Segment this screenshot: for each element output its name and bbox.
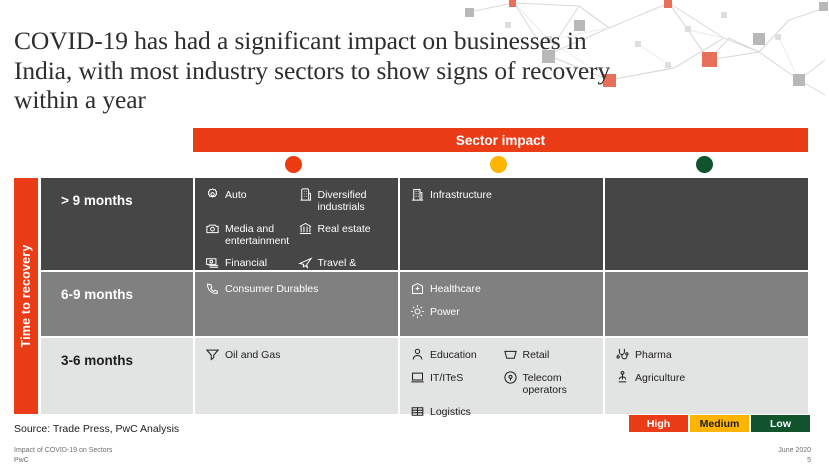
sector-label: Retail bbox=[523, 348, 550, 361]
sector-item[interactable]: Pharma bbox=[615, 348, 800, 362]
matrix-cell-medium: Infrastructure bbox=[398, 178, 603, 270]
footer-date: June 2020 bbox=[778, 446, 811, 456]
person-icon bbox=[410, 347, 425, 362]
sector-label: Education bbox=[430, 348, 477, 361]
matrix-cell-high: Consumer Durables bbox=[193, 272, 398, 336]
sector-list: Education Retail IT/ITeS Telecom operato… bbox=[410, 348, 595, 408]
row-label-cell: 3-6 months bbox=[41, 338, 193, 414]
sector-label: Power bbox=[430, 305, 460, 318]
hospital-icon bbox=[410, 281, 425, 296]
sector-label: IT/ITeS bbox=[430, 371, 463, 384]
time-to-recovery-axis: Time to recovery bbox=[14, 178, 38, 414]
sector-item[interactable]: Auto bbox=[205, 188, 298, 213]
slide-canvas: COVID-19 has had a significant impact on… bbox=[0, 0, 829, 469]
sector-item[interactable]: Oil and Gas bbox=[205, 348, 390, 362]
legend-item-medium[interactable]: Medium bbox=[690, 415, 749, 432]
sector-item[interactable]: Power bbox=[410, 305, 595, 319]
grid-icon bbox=[410, 404, 425, 419]
matrix-row: > 9 months Auto Diversified industrials … bbox=[41, 178, 808, 270]
plant-icon bbox=[615, 370, 630, 385]
row-label: 6-9 months bbox=[51, 282, 133, 302]
cart-icon bbox=[503, 347, 518, 362]
sector-item[interactable]: Healthcare bbox=[410, 282, 595, 296]
sector-item[interactable]: Retail bbox=[503, 348, 596, 362]
row-label: > 9 months bbox=[51, 188, 133, 208]
matrix-row: 3-6 months Oil and Gas Education bbox=[41, 338, 808, 414]
infrastructure-icon bbox=[410, 187, 425, 202]
matrix-row: 6-9 months Consumer Durables Healthcare bbox=[41, 272, 808, 336]
sector-label: Diversified industrials bbox=[318, 188, 391, 213]
matrix-cell-low bbox=[603, 272, 808, 336]
matrix-cell-medium: Education Retail IT/ITeS Telecom operato… bbox=[398, 338, 603, 414]
sector-item[interactable]: Infrastructure bbox=[410, 188, 595, 202]
sector-item[interactable]: Real estate bbox=[298, 222, 391, 247]
footer-page-number: 5 bbox=[778, 456, 811, 466]
footer-doc-title: Impact of COVID-19 on Sectors bbox=[14, 446, 112, 456]
sector-label: Media and entertainment bbox=[225, 222, 298, 247]
stethoscope-icon bbox=[615, 347, 630, 362]
row-label-cell: > 9 months bbox=[41, 178, 193, 270]
airplane-icon bbox=[298, 255, 313, 270]
footer-right: June 2020 5 bbox=[778, 446, 811, 465]
sector-list: Infrastructure bbox=[410, 188, 595, 264]
impact-dot-row bbox=[193, 153, 808, 175]
matrix-cell-high: Oil and Gas bbox=[193, 338, 398, 414]
sector-impact-matrix: > 9 months Auto Diversified industrials … bbox=[41, 178, 808, 414]
sector-list bbox=[615, 188, 800, 264]
source-note: Source: Trade Press, PwC Analysis bbox=[14, 423, 179, 435]
sector-label: Auto bbox=[225, 188, 247, 201]
matrix-cell-high: Auto Diversified industrials Media and e… bbox=[193, 178, 398, 270]
building-icon bbox=[298, 187, 313, 202]
sector-item[interactable]: Agriculture bbox=[615, 371, 800, 385]
bank-icon bbox=[298, 221, 313, 236]
sector-item[interactable]: Logistics bbox=[410, 405, 503, 419]
row-label-cell: 6-9 months bbox=[41, 272, 193, 336]
low-impact-dot bbox=[696, 156, 713, 173]
sector-label: Real estate bbox=[318, 222, 371, 235]
banknotes-icon bbox=[205, 255, 220, 270]
antenna-icon bbox=[503, 370, 518, 385]
sector-item[interactable]: Telecom operators bbox=[503, 371, 596, 396]
legend-item-high[interactable]: High bbox=[629, 415, 688, 432]
sector-label: Logistics bbox=[430, 405, 471, 418]
sector-list: Oil and Gas bbox=[205, 348, 390, 408]
sector-impact-header: Sector impact bbox=[193, 128, 808, 152]
sector-label: Healthcare bbox=[430, 282, 481, 295]
phone-icon bbox=[205, 281, 220, 296]
sector-label: Pharma bbox=[635, 348, 672, 361]
footer-brand: PwC bbox=[14, 456, 112, 466]
time-to-recovery-label: Time to recovery bbox=[19, 244, 33, 347]
sector-label: Infrastructure bbox=[430, 188, 492, 201]
sector-list: Healthcare Power bbox=[410, 282, 595, 330]
matrix-cell-medium: Healthcare Power bbox=[398, 272, 603, 336]
page-title: COVID-19 has had a significant impact on… bbox=[14, 26, 614, 115]
funnel-icon bbox=[205, 347, 220, 362]
sun-icon bbox=[410, 304, 425, 319]
sector-item[interactable]: Diversified industrials bbox=[298, 188, 391, 213]
sector-list: Consumer Durables bbox=[205, 282, 390, 330]
laptop-icon bbox=[410, 370, 425, 385]
sector-label: Consumer Durables bbox=[225, 282, 318, 295]
camera-icon bbox=[205, 221, 220, 236]
sector-item[interactable]: Media and entertainment bbox=[205, 222, 298, 247]
sector-label: Agriculture bbox=[635, 371, 685, 384]
high-impact-dot bbox=[285, 156, 302, 173]
matrix-cell-low: Pharma Agriculture bbox=[603, 338, 808, 414]
sector-list: Auto Diversified industrials Media and e… bbox=[205, 188, 390, 264]
medium-impact-dot bbox=[490, 156, 507, 173]
sector-label: Oil and Gas bbox=[225, 348, 280, 361]
impact-legend: High Medium Low bbox=[629, 415, 810, 432]
sector-item[interactable]: Consumer Durables bbox=[205, 282, 390, 296]
sector-list bbox=[615, 282, 800, 330]
footer-left: Impact of COVID-19 on Sectors PwC bbox=[14, 446, 112, 465]
sector-item[interactable]: Education bbox=[410, 348, 503, 362]
sector-impact-label: Sector impact bbox=[456, 133, 545, 148]
legend-item-low[interactable]: Low bbox=[751, 415, 810, 432]
sector-item[interactable]: IT/ITeS bbox=[410, 371, 503, 396]
sector-list: Pharma Agriculture bbox=[615, 348, 800, 408]
sector-label: Telecom operators bbox=[523, 371, 596, 396]
matrix-cell-low bbox=[603, 178, 808, 270]
gear-icon bbox=[205, 187, 220, 202]
row-label: 3-6 months bbox=[51, 348, 133, 368]
